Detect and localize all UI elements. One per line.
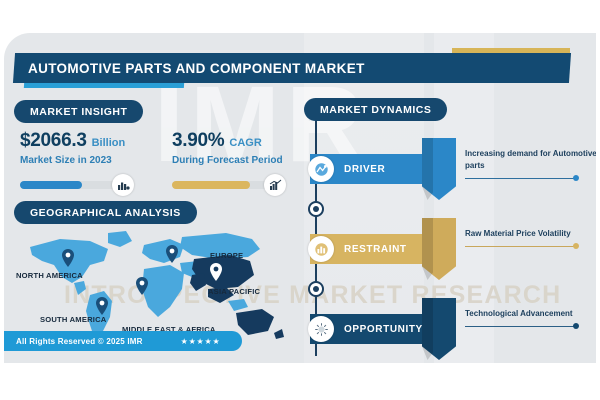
restraint-leader-line	[465, 243, 591, 250]
map-label-asia-pacific: ASIA PACIFIC	[208, 287, 260, 296]
infographic-card: IMR INTROSPECTIVE MARKET RESEARCH AUTOMO…	[4, 33, 596, 363]
kpi-unit: CAGR	[229, 137, 261, 149]
kpi-cagr: 3.90% CAGR During Forecast Period	[172, 130, 312, 196]
kpi-value-row: 3.90% CAGR	[172, 130, 312, 152]
restraint-callout-text: Raw Material Price Volatility	[465, 228, 596, 240]
timeline-node-2	[308, 281, 324, 297]
kpi-value: $2066.3	[20, 130, 87, 152]
geographical-analysis-header: GEOGRAPHICAL ANALYSIS	[14, 201, 197, 224]
restraint-callout: Raw Material Price Volatility	[465, 228, 596, 250]
kpi-market-size: $2066.3 Billion Market Size in 2023	[20, 130, 160, 196]
restraint-label: RESTRAINT	[344, 244, 407, 255]
market-insight-header: MARKET INSIGHT	[14, 100, 143, 123]
map-label-south-america: SOUTH AMERICA	[40, 315, 106, 324]
title-bar-content: AUTOMOTIVE PARTS AND COMPONENT MARKET	[14, 53, 570, 83]
kpi-value: 3.90%	[172, 130, 224, 152]
kpi-value-row: $2066.3 Billion	[20, 130, 160, 152]
rating-stars: ★★★★★	[181, 337, 221, 346]
map-region-australia	[236, 309, 274, 335]
restraint-band: RESTRAINT	[310, 234, 422, 264]
page-title: AUTOMOTIVE PARTS AND COMPONENT MARKET	[28, 61, 365, 76]
footer-bar: All Rights Reserved © 2025 IMR ★★★★★	[4, 331, 242, 351]
driver-leader-line	[465, 175, 591, 182]
opportunity-band: OPPORTUNITY	[310, 314, 422, 344]
dynamics-row-restraint: RESTRAINT Raw Material Price Volatility	[310, 234, 422, 264]
opportunity-callout-text: Technological Advancement	[465, 308, 596, 320]
dynamics-row-opportunity: OPPORTUNITY Technological Advancement	[310, 314, 422, 344]
map-label-europe: EUROPE	[210, 251, 243, 260]
copyright-text: All Rights Reserved © 2025 IMR	[16, 337, 143, 346]
bar-chart-icon	[112, 174, 134, 196]
kpi-unit: Billion	[92, 137, 126, 149]
map-region-africa	[142, 265, 184, 317]
opportunity-idea-icon	[308, 316, 334, 342]
opportunity-leader-line	[465, 323, 591, 330]
driver-gauge-icon	[308, 156, 334, 182]
kpi-progress	[172, 174, 302, 196]
driver-callout-text: Increasing demand for Automotive parts	[465, 148, 596, 172]
kpi-caption: Market Size in 2023	[20, 155, 160, 166]
kpi-caption: During Forecast Period	[172, 155, 312, 166]
kpi-progress	[20, 174, 150, 196]
opportunity-callout: Technological Advancement	[465, 308, 596, 330]
progress-fill	[20, 181, 82, 189]
map-label-north-america: NORTH AMERICA	[16, 271, 83, 280]
restraint-chart-icon	[308, 236, 334, 262]
driver-label: DRIVER	[344, 164, 385, 175]
progress-fill	[172, 181, 250, 189]
growth-chart-icon	[264, 174, 286, 196]
driver-band: DRIVER	[310, 154, 422, 184]
infographic-canvas: IMR INTROSPECTIVE MARKET RESEARCH AUTOMO…	[0, 0, 600, 400]
world-map: NORTH AMERICA SOUTH AMERICA EUROPE ASIA …	[12, 225, 297, 345]
dynamics-row-driver: DRIVER Increasing demand for Automotive …	[310, 154, 422, 184]
market-dynamics-header: MARKET DYNAMICS	[304, 98, 447, 121]
opportunity-label: OPPORTUNITY	[344, 324, 423, 335]
driver-callout: Increasing demand for Automotive parts	[465, 148, 596, 182]
timeline-node-1	[308, 201, 324, 217]
title-underline	[24, 83, 184, 88]
